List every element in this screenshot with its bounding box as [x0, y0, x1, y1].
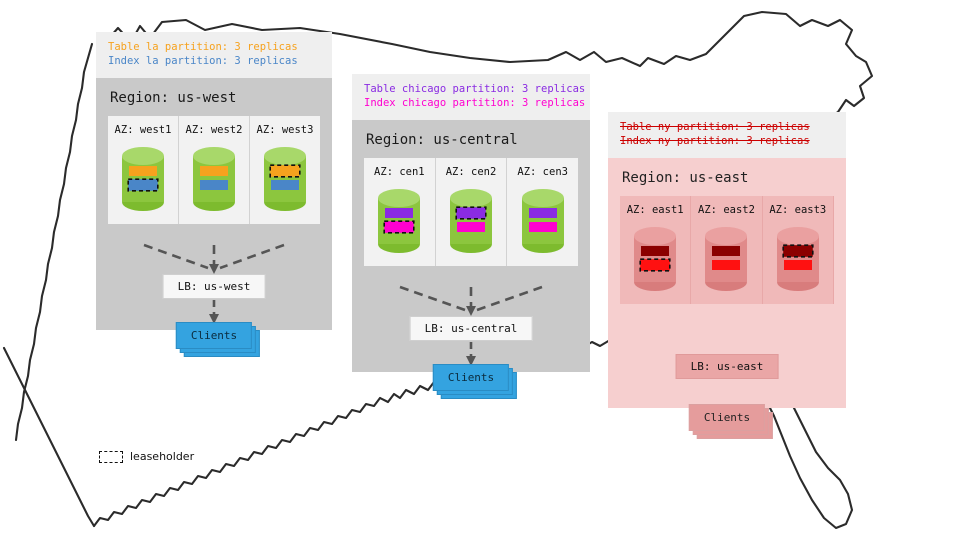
- clients-label: Clients: [448, 371, 494, 384]
- node-cylinder-east3[interactable]: [775, 224, 821, 294]
- load-balancer-us-west[interactable]: LB: us-west: [163, 274, 266, 299]
- clients-box[interactable]: Clients: [433, 364, 509, 391]
- clients-us-east[interactable]: Clients: [689, 404, 765, 431]
- az-cell-west2[interactable]: AZ: west2: [179, 116, 250, 224]
- node-cylinder-east2[interactable]: [703, 224, 749, 294]
- node-cylinder-east1[interactable]: [632, 224, 678, 294]
- partition-line-index: Index la partition: 3 replicas: [108, 54, 320, 68]
- node-cylinder-cen3[interactable]: [520, 186, 566, 256]
- lb-to-clients-arrow-us-central: [465, 342, 477, 366]
- az-label: AZ: cen1: [374, 166, 425, 178]
- az-cell-west1[interactable]: AZ: west1: [108, 116, 179, 224]
- lb-label: LB: us-central: [425, 322, 518, 335]
- partition-line-table: Table la partition: 3 replicas: [108, 40, 320, 54]
- az-label: AZ: west2: [186, 124, 243, 136]
- region-panel-us-central: Table chicago partition: 3 replicas Inde…: [352, 74, 590, 372]
- az-cell-cen2[interactable]: AZ: cen2: [436, 158, 508, 266]
- region-panel-us-east: Table ny partition: 3 replicas Index ny …: [608, 112, 846, 408]
- clients-box[interactable]: Clients: [689, 404, 765, 431]
- lb-label: LB: us-east: [691, 360, 764, 373]
- node-cylinder-west1[interactable]: [120, 144, 166, 214]
- partition-line-table: Table chicago partition: 3 replicas: [364, 82, 578, 96]
- region-header-us-east: Table ny partition: 3 replicas Index ny …: [608, 112, 846, 158]
- az-cell-east1[interactable]: AZ: east1: [620, 196, 691, 304]
- az-label: AZ: east1: [627, 204, 684, 216]
- az-label: AZ: west3: [257, 124, 314, 136]
- dashed-rectangle-icon: [99, 451, 123, 463]
- az-label: AZ: east3: [769, 204, 826, 216]
- az-cell-cen1[interactable]: AZ: cen1: [364, 158, 436, 266]
- region-body-us-west: Region: us-west AZ: west1 AZ: west2: [96, 78, 332, 330]
- az-cell-east2[interactable]: AZ: east2: [691, 196, 762, 304]
- az-row-us-east: AZ: east1 AZ: east2: [620, 196, 834, 304]
- partition-line-index: Index chicago partition: 3 replicas: [364, 96, 578, 110]
- az-row-us-central: AZ: cen1 AZ: cen2: [364, 158, 578, 266]
- load-balancer-us-east[interactable]: LB: us-east: [676, 354, 779, 379]
- az-cell-cen3[interactable]: AZ: cen3: [507, 158, 578, 266]
- clients-label: Clients: [704, 411, 750, 424]
- lb-to-clients-arrow-us-west: [208, 300, 220, 324]
- partition-line-index: Index ny partition: 3 replicas: [620, 134, 834, 148]
- clients-label: Clients: [191, 329, 237, 342]
- region-header-us-west: Table la partition: 3 replicas Index la …: [96, 32, 332, 78]
- partition-line-table: Table ny partition: 3 replicas: [620, 120, 834, 134]
- az-cell-west3[interactable]: AZ: west3: [250, 116, 320, 224]
- az-label: AZ: east2: [698, 204, 755, 216]
- az-label: AZ: west1: [115, 124, 172, 136]
- clients-box[interactable]: Clients: [176, 322, 252, 349]
- region-body-us-central: Region: us-central AZ: cen1 AZ: cen2: [352, 120, 590, 372]
- az-cell-east3[interactable]: AZ: east3: [763, 196, 834, 304]
- node-cylinder-west3[interactable]: [262, 144, 308, 214]
- lb-label: LB: us-west: [178, 280, 251, 293]
- region-panel-us-west: Table la partition: 3 replicas Index la …: [96, 32, 332, 330]
- region-body-us-east: Region: us-east AZ: east1 AZ: east2: [608, 158, 846, 408]
- node-cylinder-cen1[interactable]: [376, 186, 422, 256]
- region-title: Region: us-west: [96, 78, 332, 116]
- node-cylinder-cen2[interactable]: [448, 186, 494, 256]
- az-label: AZ: cen2: [446, 166, 497, 178]
- region-title: Region: us-central: [352, 120, 590, 158]
- clients-us-west[interactable]: Clients: [176, 322, 252, 349]
- node-cylinder-west2[interactable]: [191, 144, 237, 214]
- region-title: Region: us-east: [608, 158, 846, 196]
- legend-label: leaseholder: [130, 450, 194, 463]
- region-header-us-central: Table chicago partition: 3 replicas Inde…: [352, 74, 590, 120]
- clients-us-central[interactable]: Clients: [433, 364, 509, 391]
- load-balancer-us-central[interactable]: LB: us-central: [410, 316, 533, 341]
- az-to-lb-arrows-us-west: [108, 241, 320, 275]
- legend-leaseholder: leaseholder: [99, 450, 194, 463]
- az-label: AZ: cen3: [517, 166, 568, 178]
- az-to-lb-arrows-us-central: [364, 283, 578, 317]
- az-row-us-west: AZ: west1 AZ: west2: [108, 116, 320, 224]
